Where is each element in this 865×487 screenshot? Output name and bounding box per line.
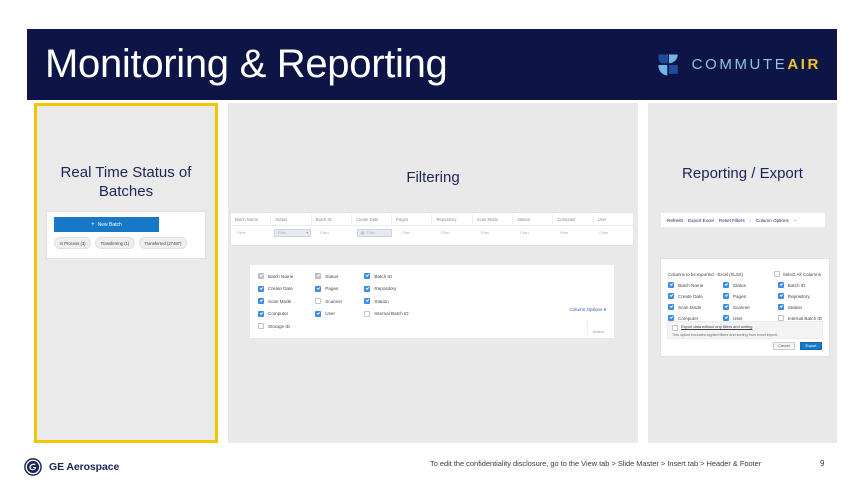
checkbox-icon[interactable] <box>315 298 321 304</box>
checkbox-item-batch-name[interactable]: Batch Name <box>258 273 293 279</box>
export-checkbox-status[interactable]: Status <box>723 282 766 288</box>
column-options-button[interactable]: Column Options <box>756 218 789 223</box>
column-header-status[interactable]: Status <box>270 213 310 225</box>
column-header-scan-mode[interactable]: Scan Mode <box>472 213 512 225</box>
export-checkbox-create-date[interactable]: Create Date <box>668 293 711 299</box>
reporting-toolbar-screenshot: Refresh Export Excel Reset Filters | Col… <box>660 212 826 228</box>
column-header-repository[interactable]: Repository <box>431 213 471 225</box>
checkbox-label: Scan Mode <box>268 299 291 304</box>
panel-middle-heading: Filtering <box>228 169 638 188</box>
checkbox-icon[interactable] <box>672 325 678 331</box>
checkbox-label: Create Date <box>268 286 293 291</box>
checkbox-label: Station <box>788 305 802 310</box>
panel-left-heading: Real Time Status of Batches <box>37 164 215 202</box>
checkbox-label: Storage ID <box>268 324 290 329</box>
checkbox-label: Batch Name <box>678 283 703 288</box>
filter-input-user[interactable]: Filter <box>596 229 630 237</box>
column-options-link[interactable]: Column Options ▾ <box>569 307 606 313</box>
checkbox-icon[interactable] <box>315 311 321 317</box>
checkbox-icon[interactable] <box>668 293 674 299</box>
status-badge-transferred[interactable]: Transferred (27487) <box>139 237 187 249</box>
checkbox-icon[interactable] <box>778 293 784 299</box>
filter-input-batch-id[interactable]: Filter <box>317 229 351 237</box>
slide-title-bar: Monitoring & Reporting COMMUTE AIR <box>27 29 837 100</box>
column-header-user[interactable]: User <box>593 213 633 225</box>
checkbox-item-station[interactable]: Station <box>364 298 408 304</box>
real-time-status-screenshot: + New Batch In Process (3) Transferring … <box>46 211 206 259</box>
checkbox-label: Internal Batch ID <box>374 311 408 316</box>
checkbox-label: Scanner <box>325 299 342 304</box>
chevron-down-icon: ▾ <box>306 231 308 235</box>
checkbox-icon[interactable] <box>723 282 729 288</box>
checkbox-label: Pages <box>325 286 338 291</box>
export-checkbox-batch-name[interactable]: Batch Name <box>668 282 711 288</box>
new-batch-button[interactable]: + New Batch <box>54 217 159 232</box>
checkbox-item-repository[interactable]: Repository <box>364 286 408 292</box>
checkbox-label: Repository <box>374 286 396 291</box>
footer-logo-text: GE Aerospace <box>49 461 119 473</box>
column-options-checkbox-grid: Batch Name Create Date Scan Mode Compute… <box>258 273 488 329</box>
export-dialog-title: Columns to be exported - Excel (XLSX) <box>668 272 743 277</box>
checkbox-icon[interactable] <box>258 323 264 329</box>
checkbox-icon[interactable] <box>778 282 784 288</box>
checkbox-label: Status <box>325 274 338 279</box>
checkbox-item-select-all[interactable]: Select All Columns <box>774 271 821 277</box>
status-chip-group: In Process (3) Transferring (1) Transfer… <box>54 237 187 249</box>
footer-page-number: 9 <box>820 459 824 468</box>
checkbox-item-batch-id[interactable]: Batch ID <box>364 273 408 279</box>
checkbox-item-scanner[interactable]: Scanner <box>315 298 342 304</box>
checkbox-item-pages[interactable]: Pages <box>315 286 342 292</box>
toolbar-divider: | <box>750 218 751 223</box>
checkbox-item-internal-batch-id[interactable]: Internal Batch ID <box>364 311 408 317</box>
column-header-pages[interactable]: Pages <box>391 213 431 225</box>
checkbox-icon[interactable] <box>364 273 370 279</box>
refresh-button[interactable]: Refresh <box>667 218 683 223</box>
checkbox-item-create-date[interactable]: Create Date <box>258 286 293 292</box>
brand-name-accent: AIR <box>787 56 821 73</box>
export-dialog-actions: Cancel Export <box>773 342 822 350</box>
checkbox-icon[interactable] <box>364 311 370 317</box>
checkbox-label: Batch ID <box>788 283 806 288</box>
checkbox-item-computer[interactable]: Computer <box>258 311 293 317</box>
column-header-computer[interactable]: Computer <box>552 213 592 225</box>
checkbox-label: Station <box>374 299 388 304</box>
status-badge-in-process[interactable]: In Process (3) <box>54 237 91 249</box>
export-excel-button[interactable]: Export Excel <box>688 218 714 223</box>
filter-input-station[interactable]: Filter <box>517 229 551 237</box>
export-note-main: Export data without any filters and sort… <box>681 325 752 330</box>
checkbox-item-scan-mode[interactable]: Scan Mode <box>258 298 293 304</box>
checkbox-icon[interactable] <box>668 282 674 288</box>
checkbox-label: Select All Columns <box>783 272 821 277</box>
checkbox-label: Pages <box>733 294 746 299</box>
cancel-button[interactable]: Cancel <box>773 342 795 350</box>
brand-wordmark: COMMUTE AIR <box>692 56 821 73</box>
column-header-action: Action <box>587 320 604 334</box>
export-dialog-screenshot: Columns to be exported - Excel (XLSX) Se… <box>660 258 830 357</box>
column-options-group-2: Status Pages Scanner User <box>315 273 342 329</box>
checkbox-label: Create Date <box>678 294 703 299</box>
checkbox-icon[interactable] <box>668 304 674 310</box>
plus-icon: + <box>91 222 95 228</box>
export-checkbox-scanner[interactable]: Scanner <box>723 304 766 310</box>
column-header-batch-id[interactable]: Batch ID <box>311 213 351 225</box>
checkbox-label: Scan Mode <box>678 305 701 310</box>
checkbox-label: Batch ID <box>374 274 392 279</box>
checkbox-icon[interactable] <box>258 298 264 304</box>
checkbox-label: Repository <box>788 294 810 299</box>
export-button[interactable]: Export <box>800 342 822 350</box>
checkbox-label: User <box>325 311 335 316</box>
status-badge-transferring[interactable]: Transferring (1) <box>95 237 135 249</box>
filter-input-pages[interactable]: Filter <box>398 229 432 237</box>
column-options-screenshot: Batch Name Create Date Scan Mode Compute… <box>249 264 615 339</box>
table-header-row: Batch Name Status Batch ID Create Date P… <box>231 213 633 226</box>
checkbox-item-status[interactable]: Status <box>315 273 342 279</box>
filter-select-status-value: Filter <box>278 230 287 235</box>
export-checkbox-batch-id[interactable]: Batch ID <box>778 282 822 288</box>
new-batch-button-label: New Batch <box>98 222 122 228</box>
ge-monogram-icon <box>24 458 42 476</box>
panel-real-time-status: Real Time Status of Batches <box>34 103 218 443</box>
commuteair-logo-icon <box>655 51 683 79</box>
filter-input-computer[interactable]: Filter <box>557 229 591 237</box>
checkbox-icon[interactable] <box>315 273 321 279</box>
chevron-down-icon: ▾ <box>604 307 606 312</box>
footer-brand: GE Aerospace <box>24 458 119 476</box>
checkbox-icon[interactable] <box>723 304 729 310</box>
checkbox-label: Computer <box>268 311 288 316</box>
column-options-link-label: Column Options <box>569 307 602 312</box>
column-header-station[interactable]: Station <box>512 213 552 225</box>
filter-input-row: Filter Filter ▾ Filter ▦ Filter Filter F… <box>231 226 633 239</box>
reset-filters-button[interactable]: Reset Filters <box>719 218 745 223</box>
calendar-icon: ▦ <box>361 230 365 235</box>
checkbox-item-storage-id[interactable]: Storage ID <box>258 323 293 329</box>
export-dialog-note: Export data without any filters and sort… <box>667 321 823 339</box>
checkbox-icon[interactable] <box>723 293 729 299</box>
filter-select-status[interactable]: Filter ▾ <box>274 229 312 237</box>
checkbox-icon[interactable] <box>315 286 321 292</box>
checkbox-icon[interactable] <box>258 311 264 317</box>
export-note-sub: This option excludes applied filters and… <box>672 333 818 337</box>
export-checkbox-repository[interactable]: Repository <box>778 293 822 299</box>
checkbox-label: Status <box>733 283 746 288</box>
page-title: Monitoring & Reporting <box>45 42 448 87</box>
checkbox-label: Scanner <box>733 305 750 310</box>
export-checkbox-station[interactable]: Station <box>778 304 822 310</box>
checkbox-label: User <box>733 316 743 321</box>
column-options-group-1: Batch Name Create Date Scan Mode Compute… <box>258 273 293 329</box>
checkbox-icon[interactable] <box>364 298 370 304</box>
checkbox-icon[interactable] <box>258 273 264 279</box>
checkbox-item-user[interactable]: User <box>315 311 342 317</box>
export-checkbox-pages[interactable]: Pages <box>723 293 766 299</box>
filter-input-repository[interactable]: Filter <box>438 229 472 237</box>
checkbox-icon[interactable] <box>778 304 784 310</box>
checkbox-label: Internal Batch ID <box>788 316 822 321</box>
footer-confidentiality-note: To edit the confidentiality disclosure, … <box>430 459 770 470</box>
brand-name-primary: COMMUTE <box>692 56 788 73</box>
filter-input-scan-mode[interactable]: Filter <box>478 229 512 237</box>
brand-logo: COMMUTE AIR <box>655 51 821 79</box>
checkbox-icon[interactable] <box>364 286 370 292</box>
checkbox-label: Computer <box>678 316 698 321</box>
checkbox-label: Batch Name <box>268 274 293 279</box>
filter-date-create-date-value: Filter <box>367 230 376 235</box>
export-checkbox-scan-mode[interactable]: Scan Mode <box>668 304 711 310</box>
filter-table-screenshot: Batch Name Status Batch ID Create Date P… <box>230 212 634 246</box>
filter-input-batch-name[interactable]: Filter <box>234 229 268 237</box>
checkbox-icon[interactable] <box>258 286 264 292</box>
filter-date-create-date[interactable]: ▦ Filter <box>357 229 393 237</box>
column-options-group-3: Batch ID Repository Station Internal Bat… <box>364 273 408 329</box>
checkbox-icon[interactable] <box>774 271 780 277</box>
column-header-create-date[interactable]: Create Date <box>351 213 391 225</box>
chevron-down-icon: ⌄ <box>794 218 797 222</box>
panel-right-heading: Reporting / Export <box>648 165 837 184</box>
column-header-batch-name[interactable]: Batch Name <box>231 213 270 225</box>
